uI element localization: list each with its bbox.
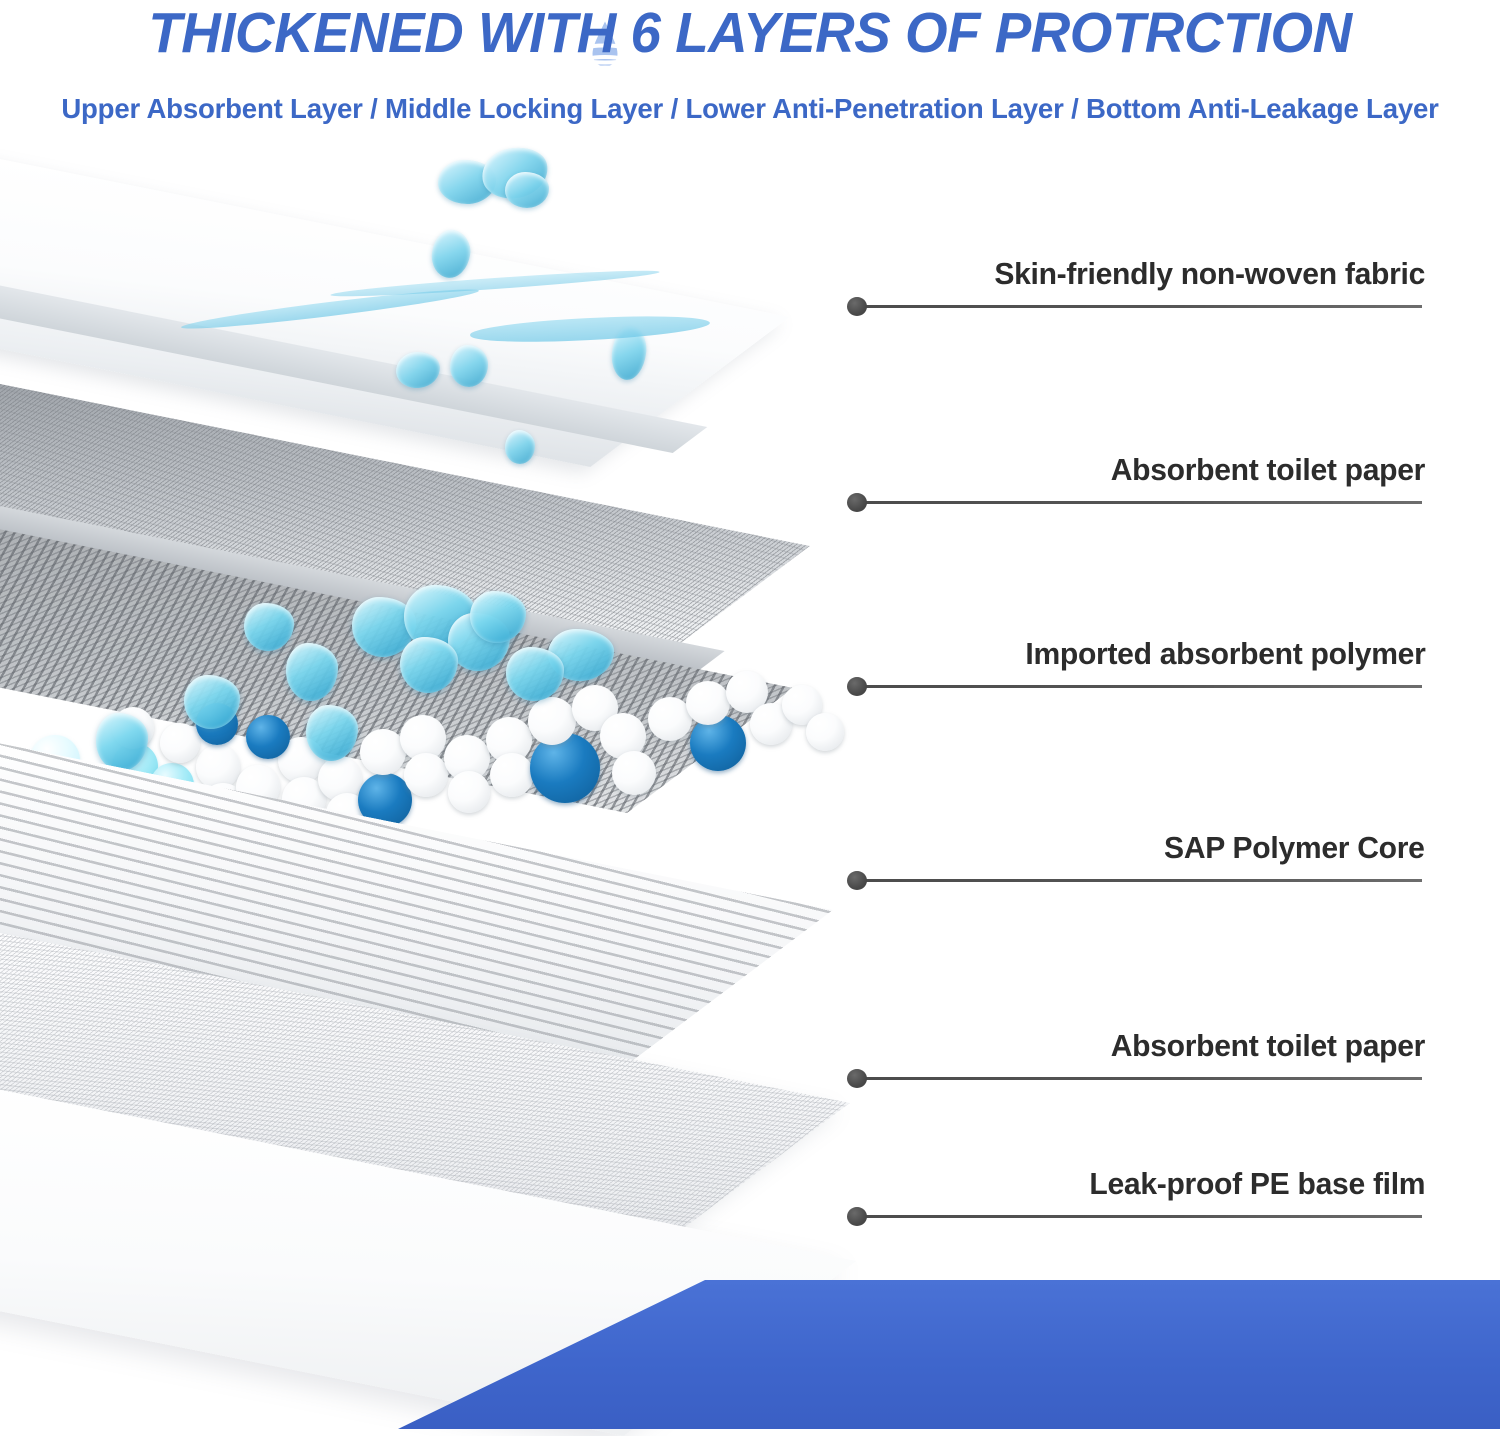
- callout-dot: [847, 297, 867, 316]
- callout-dot: [847, 677, 867, 696]
- callout-leader-line: [856, 305, 1422, 308]
- callout-leader-line: [856, 1215, 1422, 1218]
- callout-label: Absorbent toilet paper: [1111, 452, 1425, 488]
- callout-dot: [847, 871, 867, 890]
- callout-label: Imported absorbent polymer: [1025, 636, 1425, 672]
- callout-sap-polymer-core: SAP Polymer Core: [847, 760, 1447, 882]
- callout-leader-line: [856, 501, 1422, 504]
- callout-leader-line: [856, 879, 1422, 882]
- callout-leader-line: [856, 685, 1422, 688]
- callout-label: Leak-proof PE base film: [1089, 1166, 1425, 1202]
- callout-dot: [847, 493, 867, 512]
- callout-group: Skin-friendly non-woven fabric Absorbent…: [0, 0, 1500, 1429]
- callout-label: SAP Polymer Core: [1164, 830, 1425, 866]
- callout-skin-friendly-non-woven-fabric: Skin-friendly non-woven fabric: [847, 186, 1447, 308]
- callout-label: Skin-friendly non-woven fabric: [994, 256, 1425, 292]
- callout-absorbent-toilet-paper-lower: Absorbent toilet paper: [847, 958, 1447, 1080]
- callout-imported-absorbent-polymer: Imported absorbent polymer: [847, 566, 1447, 688]
- callout-dot: [847, 1207, 867, 1226]
- callout-absorbent-toilet-paper-upper: Absorbent toilet paper: [847, 382, 1447, 504]
- callout-label: Absorbent toilet paper: [1111, 1028, 1425, 1064]
- callout-leak-proof-pe-base-film: Leak-proof PE base film: [847, 1096, 1447, 1218]
- callout-leader-line: [856, 1077, 1422, 1080]
- callout-dot: [847, 1069, 867, 1088]
